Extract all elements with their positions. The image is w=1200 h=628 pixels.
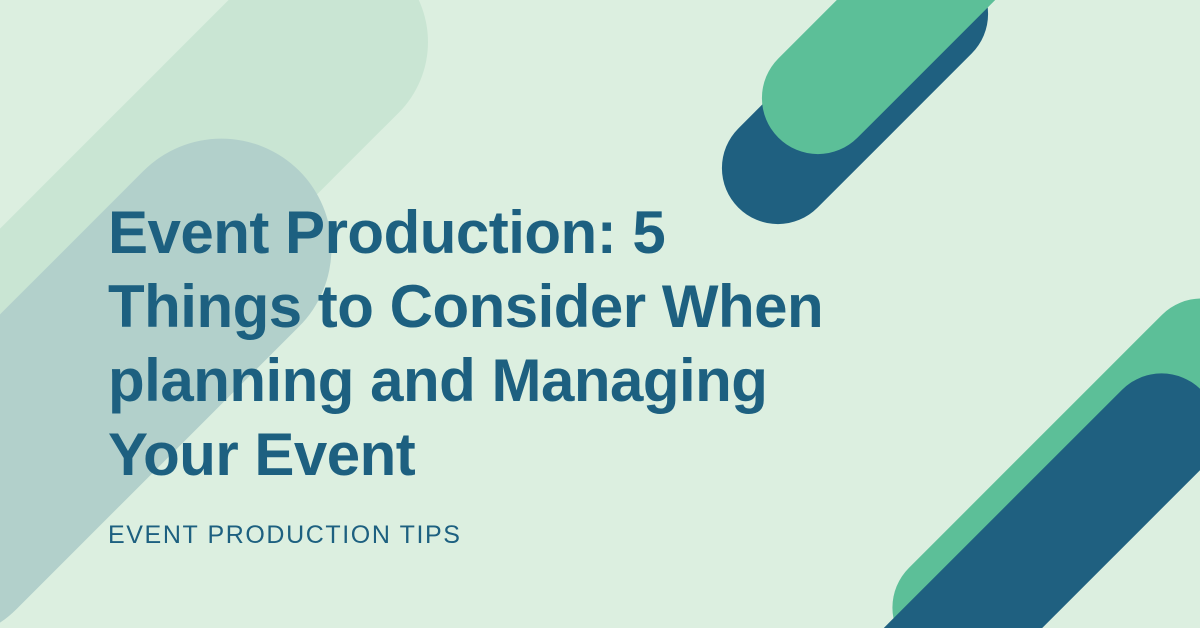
blog-header-banner: Event Production: 5 Things to Consider W… [0, 0, 1200, 628]
banner-text-block: Event Production: 5 Things to Consider W… [108, 196, 908, 550]
bottom-right-green-capsule-decoration [869, 275, 1200, 628]
page-title: Event Production: 5 Things to Consider W… [108, 196, 908, 492]
top-right-green-capsule-decoration [739, 0, 1052, 177]
category-label: EVENT PRODUCTION TIPS [108, 492, 908, 550]
